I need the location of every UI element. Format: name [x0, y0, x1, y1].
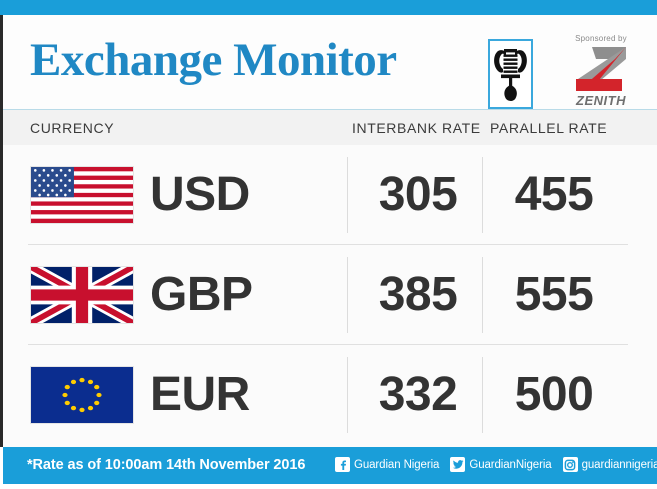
flag-eu-icon [30, 366, 134, 424]
rates-table: USD 305 455 GBP 385 [3, 145, 657, 447]
column-divider [347, 357, 348, 433]
currency-code: USD [150, 159, 250, 231]
column-header-interbank: INTERBANK RATE [352, 120, 481, 136]
column-divider [482, 257, 483, 333]
twitter-handle: GuardianNigeria [469, 459, 551, 471]
rate-timestamp-note: *Rate as of 10:00am 14th November 2016 [27, 457, 305, 473]
top-accent-bar [0, 0, 657, 15]
card-header: Exchange Monitor Sponsor [3, 15, 657, 110]
facebook-handle: Guardian Nigeria [354, 459, 439, 471]
currency-code: EUR [150, 359, 250, 431]
table-row: GBP 385 555 [3, 245, 657, 345]
instagram-icon [563, 457, 578, 472]
column-header-currency: CURRENCY [30, 120, 114, 136]
parallel-rate-value: 500 [499, 359, 609, 431]
column-divider [347, 257, 348, 333]
interbank-rate-value: 305 [363, 159, 473, 231]
social-link-twitter[interactable]: GuardianNigeria [450, 457, 551, 472]
currency-code: GBP [150, 259, 253, 331]
social-link-facebook[interactable]: Guardian Nigeria [335, 457, 439, 472]
guardian-logo-icon [488, 39, 533, 109]
bottom-edge-border [0, 484, 657, 489]
zenith-z-icon [570, 45, 632, 93]
column-header-parallel: PARALLEL RATE [490, 120, 607, 136]
column-divider [347, 157, 348, 233]
exchange-monitor-card: Exchange Monitor Sponsor [0, 0, 657, 489]
table-row: USD 305 455 [3, 145, 657, 245]
card-footer: *Rate as of 10:00am 14th November 2016 G… [3, 447, 657, 484]
zenith-wordmark: ZENITH [561, 94, 641, 107]
table-column-headers: CURRENCY INTERBANK RATE PARALLEL RATE [3, 110, 657, 145]
flag-uk-icon [30, 266, 134, 324]
instagram-handle: guardiannigeria [582, 459, 657, 471]
interbank-rate-value: 332 [363, 359, 473, 431]
flag-usa-icon [30, 166, 134, 224]
interbank-rate-value: 385 [363, 259, 473, 331]
facebook-icon [335, 457, 350, 472]
social-links: Guardian Nigeria GuardianNigeria [335, 457, 657, 472]
parallel-rate-value: 555 [499, 259, 609, 331]
social-link-instagram[interactable]: guardiannigeria [563, 457, 657, 472]
parallel-rate-value: 455 [499, 159, 609, 231]
column-divider [482, 157, 483, 233]
page-title: Exchange Monitor [30, 37, 397, 84]
twitter-icon [450, 457, 465, 472]
sponsor-block: Sponsored by ZENITH [561, 35, 641, 113]
column-divider [482, 357, 483, 433]
table-row: EUR 332 500 [3, 345, 657, 445]
sponsored-label: Sponsored by [561, 35, 641, 43]
